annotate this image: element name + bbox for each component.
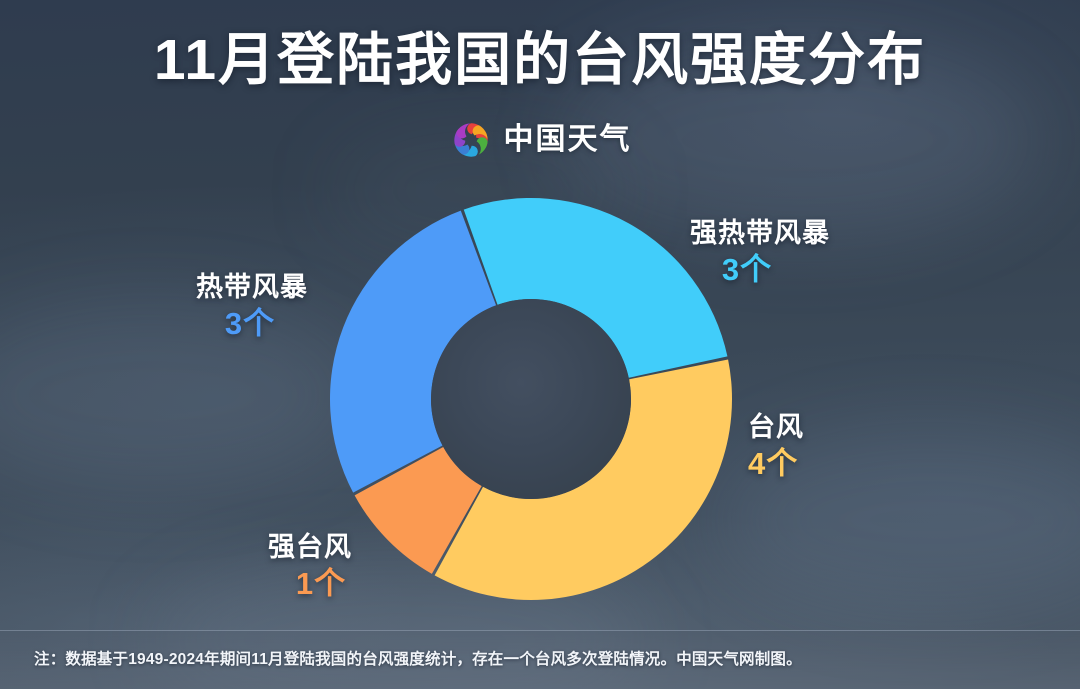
donut-hole xyxy=(431,299,631,499)
callout-tropical-storm: 热带风暴 3个 xyxy=(196,270,308,344)
callout-value: 1个 xyxy=(268,564,352,604)
infographic-poster: 11月登陆我国的台风强度分布 中国天气 xyxy=(0,0,1080,689)
callout-severe-typhoon: 强台风 1个 xyxy=(268,530,352,604)
donut-chart xyxy=(318,186,744,612)
brand-logo-text: 中国天气 xyxy=(504,123,632,157)
callout-value: 3个 xyxy=(196,304,308,344)
callout-label: 台风 xyxy=(748,410,806,444)
footnote-text: 注：数据基于1949-2024年期间11月登陆我国的台风强度统计，存在一个台风多… xyxy=(0,650,802,670)
pinwheel-logo-icon xyxy=(449,118,493,162)
footnote-bar: 注：数据基于1949-2024年期间11月登陆我国的台风强度统计，存在一个台风多… xyxy=(0,630,1080,689)
callout-label: 强热带风暴 xyxy=(690,216,830,250)
callout-value: 4个 xyxy=(748,444,806,484)
callout-label: 热带风暴 xyxy=(196,270,308,304)
callout-value: 3个 xyxy=(690,250,830,290)
callout-label: 强台风 xyxy=(268,530,352,564)
callout-severe-tropical-storm: 强热带风暴 3个 xyxy=(690,216,830,290)
brand-logo: 中国天气 xyxy=(0,118,1080,162)
page-title: 11月登陆我国的台风强度分布 xyxy=(0,27,1080,93)
callout-typhoon: 台风 4个 xyxy=(748,410,806,484)
